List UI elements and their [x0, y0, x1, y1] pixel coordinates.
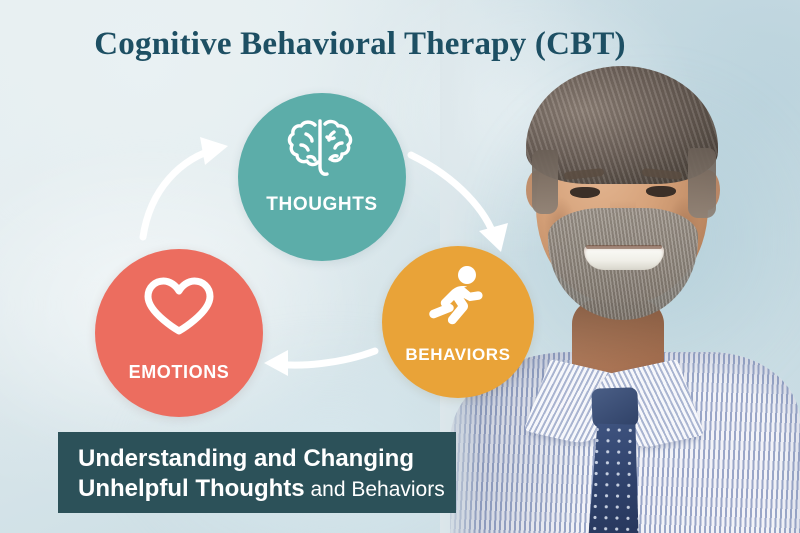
eye-right	[646, 186, 676, 197]
heart-icon	[143, 277, 215, 344]
tie-knot	[591, 387, 638, 429]
node-behaviors[interactable]: BEHAVIORS	[382, 246, 534, 398]
caption-line-2-bold: Unhelpful Thoughts	[78, 475, 305, 502]
running-person-icon	[425, 266, 491, 333]
mouth-line	[586, 245, 662, 249]
node-emotions-label: EMOTIONS	[129, 362, 230, 383]
caption-line-2-light: and Behaviors	[305, 478, 445, 501]
node-thoughts-label: THOUGHTS	[266, 194, 377, 216]
node-emotions[interactable]: EMOTIONS	[95, 249, 263, 417]
sideburn-left	[532, 150, 558, 214]
eye-left	[570, 187, 600, 198]
node-thoughts[interactable]: THOUGHTS	[238, 93, 406, 261]
sideburn-right	[688, 148, 716, 218]
necktie	[589, 423, 642, 533]
caption-line-1: Understanding and Changing	[78, 444, 440, 474]
page-title: Cognitive Behavioral Therapy (CBT)	[0, 26, 720, 63]
cbt-infographic: Cognitive Behavioral Therapy (CBT)	[0, 0, 800, 533]
brain-icon	[284, 115, 360, 182]
smile-teeth	[584, 246, 664, 270]
node-behaviors-label: BEHAVIORS	[405, 345, 510, 365]
caption-bar: Understanding and Changing Unhelpful Tho…	[58, 432, 456, 513]
caption-line-2: Unhelpful Thoughts and Behaviors	[78, 474, 440, 505]
